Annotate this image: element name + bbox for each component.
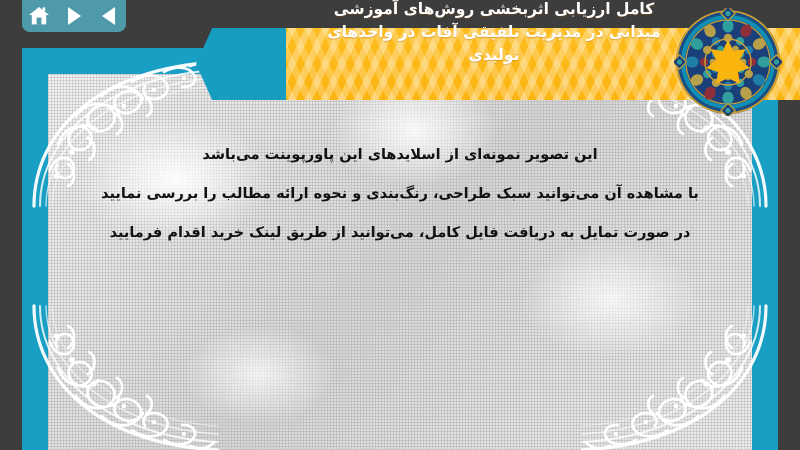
home-icon [28,6,50,26]
next-slide-button[interactable] [62,5,86,27]
title-line-3: تولیدی [284,44,704,67]
body-line-1: این تصویر نمونه‌ای از اسلایدهای این پاور… [62,136,738,175]
slide-canvas [48,74,752,450]
previous-slide-button[interactable] [97,5,121,27]
title-line-1: کامل ارزیابی اثربخشی روش‌های آموزشی [284,0,704,21]
slide-frame: این تصویر نمونه‌ای از اسلایدهای این پاور… [22,48,778,450]
page-title: کامل ارزیابی اثربخشی روش‌های آموزشی میدا… [284,0,704,67]
body-line-3: در صورت تمایل به دریافت فایل کامل، می‌تو… [62,214,738,253]
mandala-medallion [674,8,782,116]
home-button[interactable] [27,5,51,27]
triangle-right-icon [68,7,81,25]
banner-arrow-tab [196,28,286,100]
slide-navigation-bar [22,0,126,32]
body-line-2: با مشاهده آن می‌توانید سبک طراحی، رنگ‌بن… [62,175,738,214]
banner-arrow-backdrop [196,0,286,28]
slide-body-text: این تصویر نمونه‌ای از اسلایدهای این پاور… [62,136,738,253]
triangle-left-icon [102,7,115,25]
title-line-2: میدانی در مدیریت تلفیقی آفات در واحدهای [284,21,704,44]
slide-viewer: این تصویر نمونه‌ای از اسلایدهای این پاور… [0,0,800,450]
